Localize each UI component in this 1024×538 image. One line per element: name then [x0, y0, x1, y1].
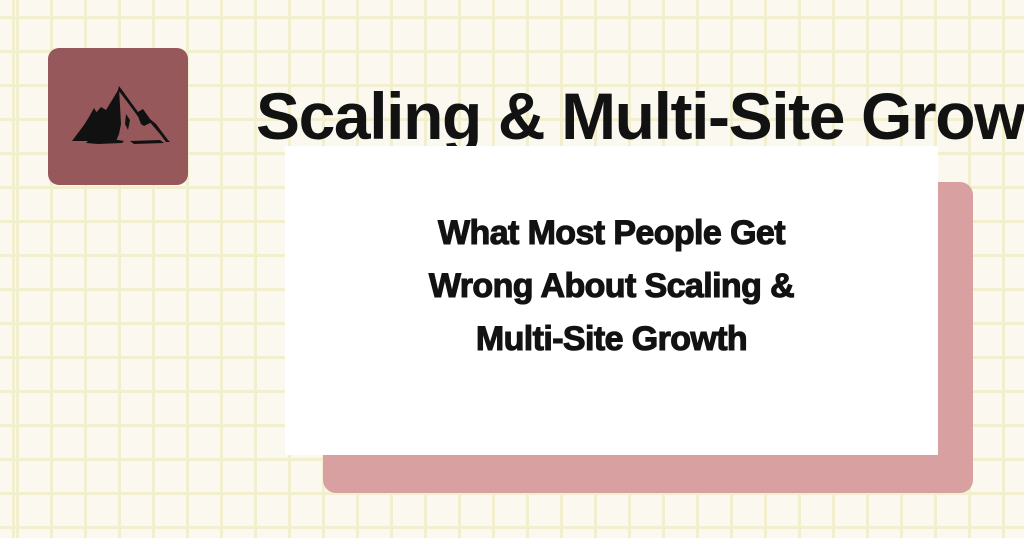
- page-title: Scaling & Multi-Site Growth: [256, 83, 1016, 149]
- logo-tile: [48, 48, 188, 185]
- card-headline: What Most People Get Wrong About Scaling…: [429, 207, 794, 366]
- card-headline-line-2: Wrong About Scaling &: [429, 260, 794, 313]
- card-headline-line-3: Multi-Site Growth: [429, 313, 794, 366]
- card-headline-line-1: What Most People Get: [429, 207, 794, 260]
- mountain-icon: [64, 84, 172, 150]
- content-card: What Most People Get Wrong About Scaling…: [285, 146, 938, 455]
